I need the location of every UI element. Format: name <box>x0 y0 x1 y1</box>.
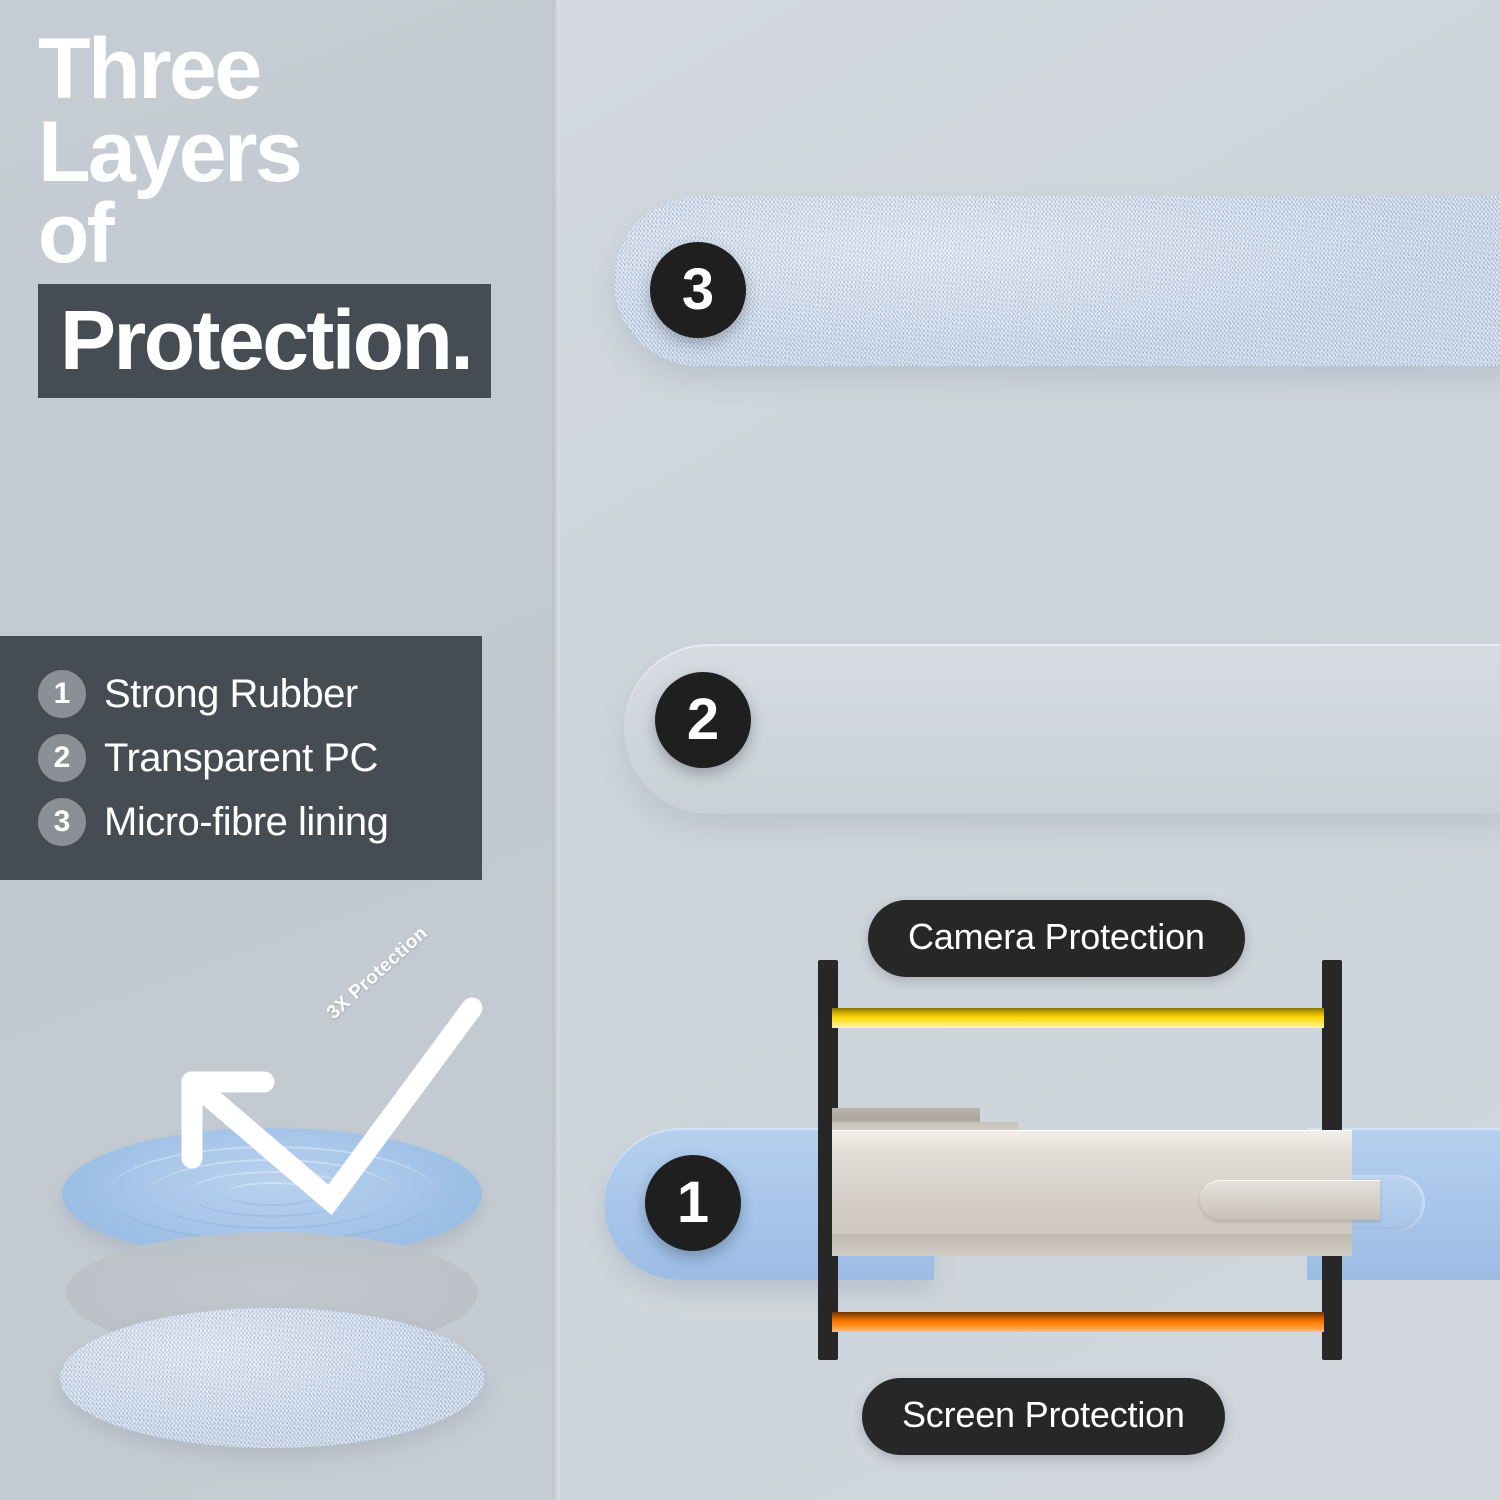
microfibre-texture <box>614 196 1500 366</box>
impact-deflection-arrow: 3X Protection <box>130 990 510 1250</box>
legend-number-badge: 3 <box>38 798 86 846</box>
phone-body <box>832 1108 1352 1256</box>
legend-item-label: Strong Rubber <box>104 672 358 717</box>
microfibre-texture <box>60 1308 484 1448</box>
screen-protection-lip <box>832 1312 1324 1332</box>
layer-badge-3: 3 <box>650 242 746 338</box>
page-title: Three Layers of Protection. <box>38 28 538 398</box>
infographic-canvas: Three Layers of Protection. 1 Strong Rub… <box>0 0 1500 1500</box>
legend-number-badge: 2 <box>38 734 86 782</box>
transparent-pc-layer-bar <box>624 644 1500 814</box>
layers-legend: 1 Strong Rubber 2 Transparent PC 3 Micro… <box>0 636 482 880</box>
list-item: 2 Transparent PC <box>38 734 452 782</box>
phone-bottom-edge <box>832 1234 1352 1256</box>
headline-line-2: Layers <box>38 111 538 194</box>
headline-highlight-box: Protection. <box>38 284 491 398</box>
microfibre-layer-disc <box>60 1308 484 1448</box>
layer-badge-2: 2 <box>655 672 751 768</box>
screen-protection-label: Screen Protection <box>862 1378 1225 1455</box>
microfibre-layer-bar <box>614 196 1500 366</box>
bounce-arrow-icon <box>130 990 510 1250</box>
phone-side-button <box>1200 1180 1380 1220</box>
headline-line-1: Three <box>38 28 538 111</box>
list-item: 3 Micro-fibre lining <box>38 798 452 846</box>
legend-item-label: Transparent PC <box>104 736 378 781</box>
list-item: 1 Strong Rubber <box>38 670 452 718</box>
layer-badge-1: 1 <box>645 1155 741 1251</box>
phone-cross-section <box>810 960 1350 1380</box>
legend-number-badge: 1 <box>38 670 86 718</box>
camera-protection-label: Camera Protection <box>868 900 1245 977</box>
legend-item-label: Micro-fibre lining <box>104 800 388 845</box>
headline-line-3: of <box>38 193 538 274</box>
camera-protection-lip <box>832 1008 1324 1028</box>
